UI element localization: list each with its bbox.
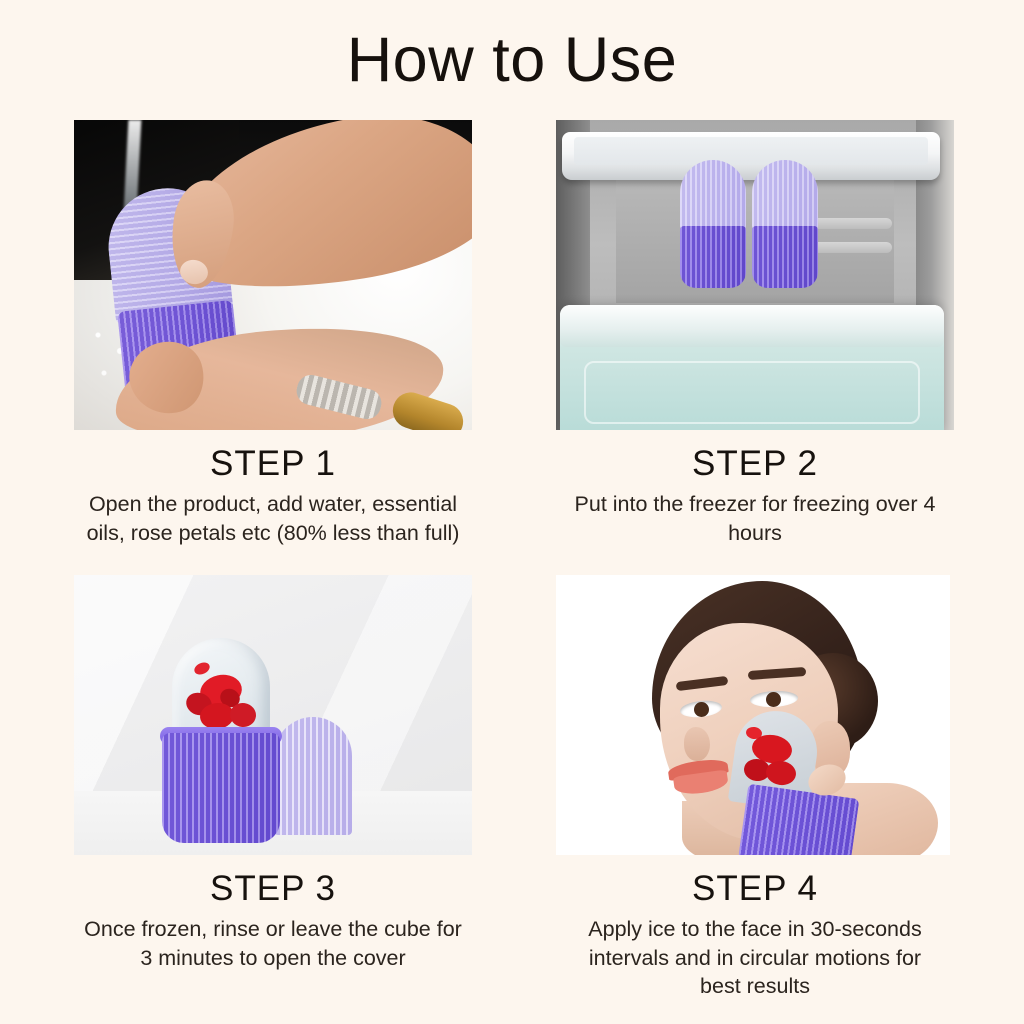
drawer-face [584,361,920,424]
iris-left [694,702,709,717]
step-title: STEP 2 [556,444,954,484]
roller-cover-detached [274,717,352,835]
step-card-3: STEP 3 Once frozen, rinse or leave the c… [74,575,472,972]
page-title: How to Use [0,24,1024,96]
roller-cap [752,160,818,230]
open-roller-photo [74,575,472,855]
how-to-use-infographic: How to Use [0,0,1024,1024]
step-description: Put into the freezer for freezing over 4… [556,490,954,547]
roller-base [752,226,818,288]
step-card-4: STEP 4 Apply ice to the face in 30-secon… [556,575,954,1001]
step-title: STEP 3 [74,869,472,909]
roller-cap [680,160,746,230]
apply-to-face-photo [556,575,950,855]
ice-roller-right [752,160,818,288]
freezer-drawer [560,305,944,430]
roller-base [680,226,746,288]
freezer-glass-shelf [562,132,940,180]
iris-right [766,692,781,707]
ice-roller-left [680,160,746,288]
step-title: STEP 1 [74,444,472,484]
model-nose [684,727,710,761]
step-card-1: STEP 1 Open the product, add water, esse… [74,120,472,547]
drawer-lip [560,305,944,347]
step-description: Once frozen, rinse or leave the cube for… [74,915,472,972]
roller-base-cup [162,733,280,843]
step-description: Open the product, add water, essential o… [74,490,472,547]
washing-product-photo [74,120,472,430]
step-card-2: STEP 2 Put into the freezer for freezing… [556,120,954,547]
freezer-photo [556,120,954,430]
step-title: STEP 4 [556,869,954,909]
shelf-surface [574,137,928,165]
step-description: Apply ice to the face in 30-seconds inte… [556,915,954,1001]
